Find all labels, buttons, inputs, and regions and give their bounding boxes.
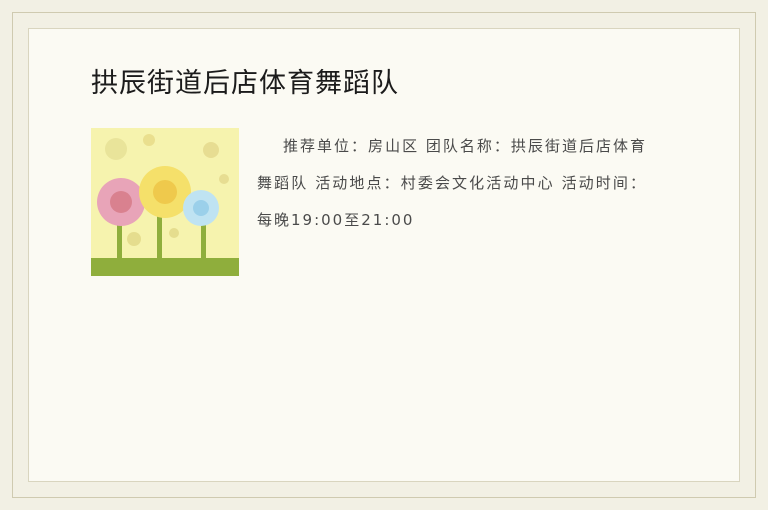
description-body: 推荐单位：房山区 团队名称：拱辰街道后店体育舞蹈队 活动地点：村委会文化活动中心… [257, 137, 647, 229]
flower-core [193, 200, 209, 216]
decor-dot [105, 138, 127, 160]
description-text: 推荐单位：房山区 团队名称：拱辰街道后店体育舞蹈队 活动地点：村委会文化活动中心… [257, 128, 707, 238]
decor-dot [143, 134, 155, 146]
content-area: 拱辰街道后店体育舞蹈队 推荐单位：房山区 [29, 29, 739, 481]
decor-dot [203, 142, 219, 158]
inner-frame: 拱辰街道后店体育舞蹈队 推荐单位：房山区 [28, 28, 740, 482]
flower-illustration-icon [91, 128, 239, 276]
body-area: 推荐单位：房山区 团队名称：拱辰街道后店体育舞蹈队 活动地点：村委会文化活动中心… [61, 128, 707, 238]
flower-grass [91, 258, 239, 276]
decor-dot [127, 232, 141, 246]
flower-bloom-blue [183, 190, 219, 226]
page-title: 拱辰街道后店体育舞蹈队 [91, 61, 707, 100]
flower-core [110, 191, 132, 213]
decor-dot [219, 174, 229, 184]
flower-bloom-pink [97, 178, 145, 226]
flower-core [153, 180, 177, 204]
page: 拱辰街道后店体育舞蹈队 推荐单位：房山区 [0, 0, 768, 510]
decor-dot [169, 228, 179, 238]
